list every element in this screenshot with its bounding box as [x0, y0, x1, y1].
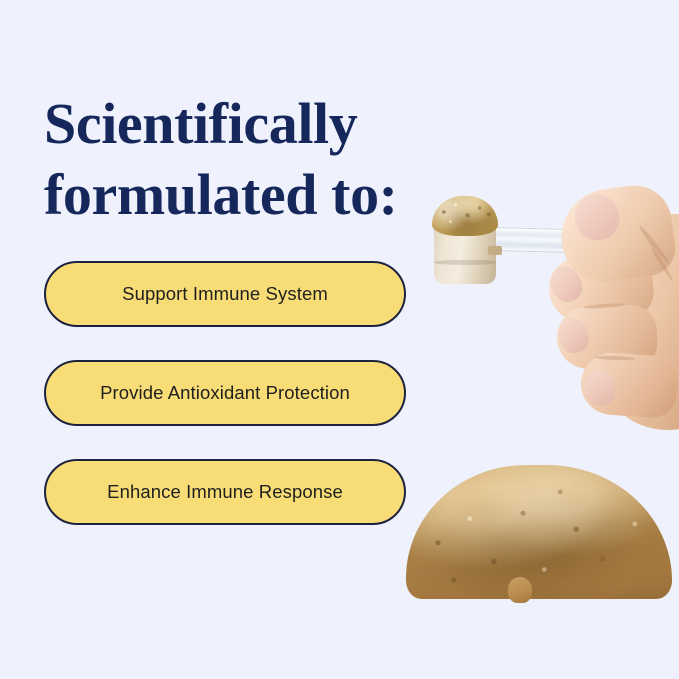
marketing-card: Scientifically formulated to: Support Im… — [0, 0, 679, 679]
benefit-pill-label: Provide Antioxidant Protection — [100, 382, 350, 404]
scoop-cup-seam — [434, 260, 496, 265]
benefit-pill-enhance-immune-response[interactable]: Enhance Immune Response — [44, 459, 406, 525]
benefit-pill-label: Enhance Immune Response — [107, 481, 343, 503]
benefit-pill-provide-antioxidant-protection[interactable]: Provide Antioxidant Protection — [44, 360, 406, 426]
powder-pile-icon — [406, 463, 672, 599]
scoop-powder-grain — [432, 196, 498, 236]
benefit-pill-support-immune-system[interactable]: Support Immune System — [44, 261, 406, 327]
powder-clump — [508, 577, 532, 603]
hand-holding-icon — [523, 188, 679, 450]
benefit-list: Support Immune System Provide Antioxidan… — [44, 261, 406, 525]
benefit-pill-label: Support Immune System — [122, 283, 328, 305]
powder-texture — [406, 465, 672, 599]
scoop-stub — [488, 246, 502, 255]
product-photo — [398, 180, 679, 620]
